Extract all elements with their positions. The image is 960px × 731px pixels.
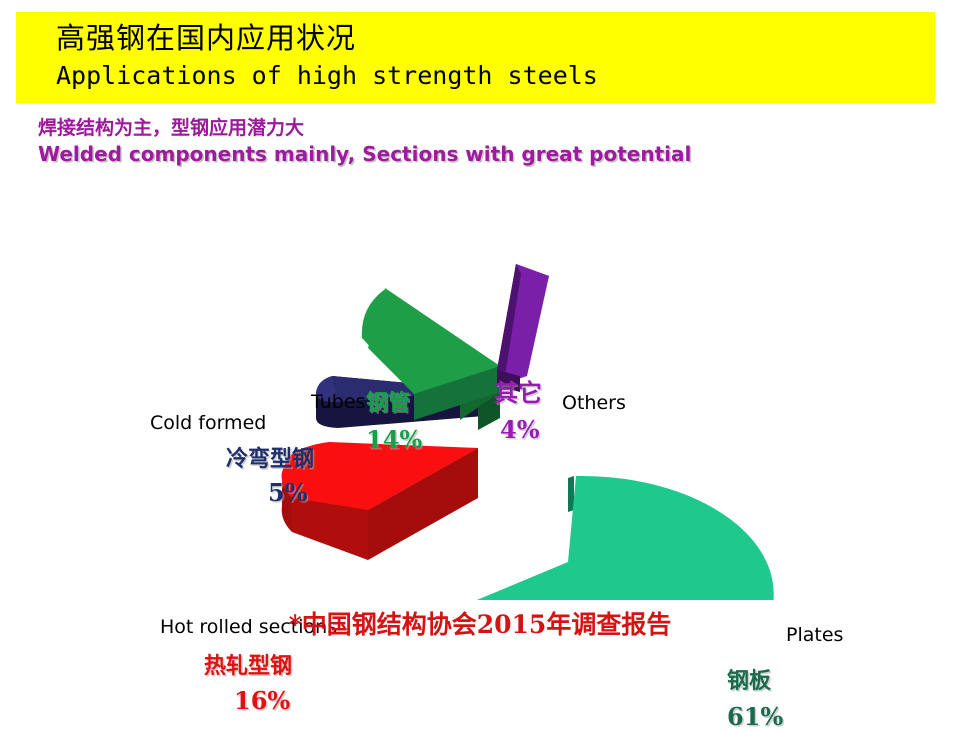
label-cold-formed-english: Cold formed [150,414,266,434]
label-others-percent: 4% [500,417,540,442]
pie-slice-others [497,264,549,392]
label-hot-rolled-percent: 16% [234,688,290,713]
label-tubes-english: Tubes [311,393,365,413]
pie-chart-svg [0,180,960,600]
subtitle-chinese: 焊接结构为主，型钢应用潜力大 [38,116,758,141]
label-plates-chinese: 钢板 [727,670,771,693]
pie-chart: Cold formed 冷弯型钢 5% Tubes 钢管 14% 其它 4% O… [0,180,960,600]
subtitle-block: 焊接结构为主，型钢应用潜力大 Welded components mainly,… [38,116,758,167]
label-plates-percent: 61% [727,704,783,729]
page-title-english: Applications of high strength steels [56,58,935,94]
source-note: *中国钢结构协会2015年调查报告 [0,605,960,641]
label-cold-formed-chinese: 冷弯型钢 [226,448,314,471]
page-title-chinese: 高强钢在国内应用状况 [56,18,935,58]
label-others-chinese: 其它 [494,380,542,405]
title-banner: 高强钢在国内应用状况 Applications of high strength… [16,12,935,103]
label-tubes-percent: 14% [366,427,422,452]
subtitle-english: Welded components mainly, Sections with … [38,141,758,167]
label-hot-rolled-chinese: 热轧型钢 [204,655,292,678]
label-others-english: Others [562,394,626,414]
label-tubes-chinese: 钢管 [366,392,410,415]
label-cold-formed-percent: 5% [268,480,308,505]
